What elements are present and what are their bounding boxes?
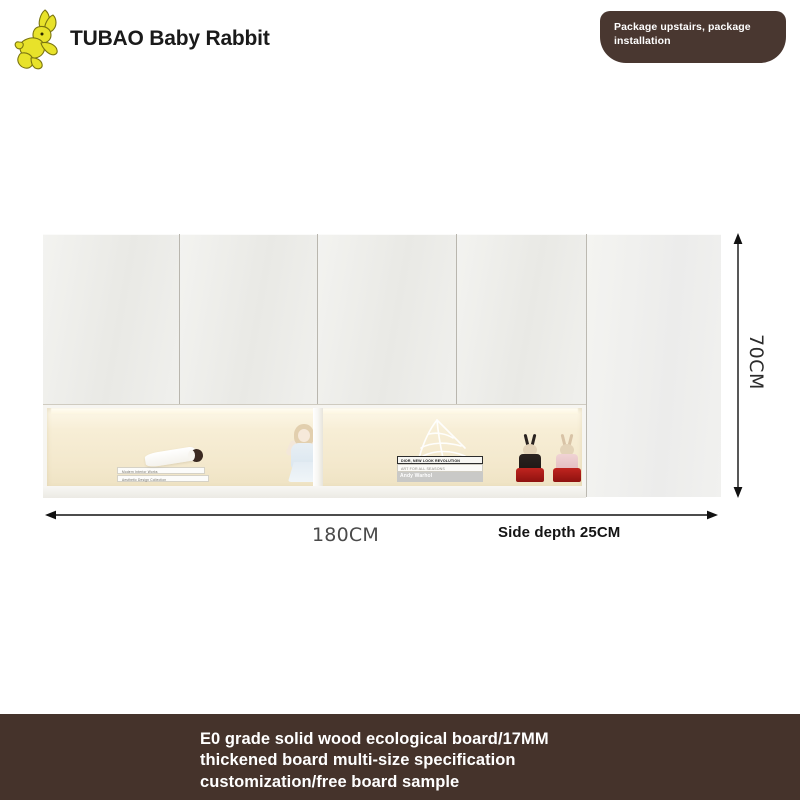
book-title: ART FOR ALL SEASONS xyxy=(401,467,479,471)
ornament-icon xyxy=(145,444,203,464)
rabbit-figurine-icon xyxy=(515,434,545,482)
cabinet-door-3 xyxy=(317,234,456,404)
cabinet-door-2 xyxy=(179,234,316,404)
bottom-caption-bar: E0 grade solid wood ecological board/17M… xyxy=(0,714,800,800)
caption-line-1: E0 grade solid wood ecological board/17M… xyxy=(200,729,800,750)
sculpture-icon xyxy=(407,418,477,460)
cabinet-upper-doors xyxy=(43,234,586,404)
book-title: Andy Warhol xyxy=(400,473,480,479)
book-item: Modern Interior Works xyxy=(117,467,205,474)
book-title: Aesthetic Design Collection xyxy=(122,478,166,482)
caption-line-3: customization/free board sample xyxy=(200,772,800,793)
book-item: ART FOR ALL SEASONS xyxy=(397,464,483,472)
book-title: DIOR, NEW LOOK REVOLUTION xyxy=(401,459,479,463)
rabbit-figurine-icon xyxy=(552,434,582,482)
cabinet-door-1 xyxy=(43,234,179,404)
cabinet-side-panel xyxy=(586,234,721,497)
cabinet-door-4 xyxy=(456,234,586,404)
product-image-stage: Modern Interior Works Aesthetic Design C… xyxy=(0,0,800,714)
book-item: DIOR, NEW LOOK REVOLUTION xyxy=(397,456,483,464)
book-item: Andy Warhol xyxy=(397,472,483,482)
shelf-interior: Modern Interior Works Aesthetic Design C… xyxy=(47,408,582,486)
cabinet-illustration: Modern Interior Works Aesthetic Design C… xyxy=(43,234,720,497)
shelf-floor xyxy=(43,486,586,498)
book-item: Aesthetic Design Collection xyxy=(117,475,209,482)
caption-line-2: thickened board multi-size specification xyxy=(200,750,800,771)
shelf-divider xyxy=(313,408,323,486)
depth-dimension-label: Side depth 25CM xyxy=(498,524,620,541)
width-dimension-label: 180CM xyxy=(312,524,379,546)
height-dimension-label: 70CM xyxy=(745,334,767,390)
book-stack-right: DIOR, NEW LOOK REVOLUTION ART FOR ALL SE… xyxy=(397,456,483,482)
book-title: Modern Interior Works xyxy=(122,470,158,474)
height-dimension-arrow-icon xyxy=(732,233,744,498)
width-dimension-arrow-icon xyxy=(45,509,718,521)
cabinet-open-shelf: Modern Interior Works Aesthetic Design C… xyxy=(43,404,586,498)
